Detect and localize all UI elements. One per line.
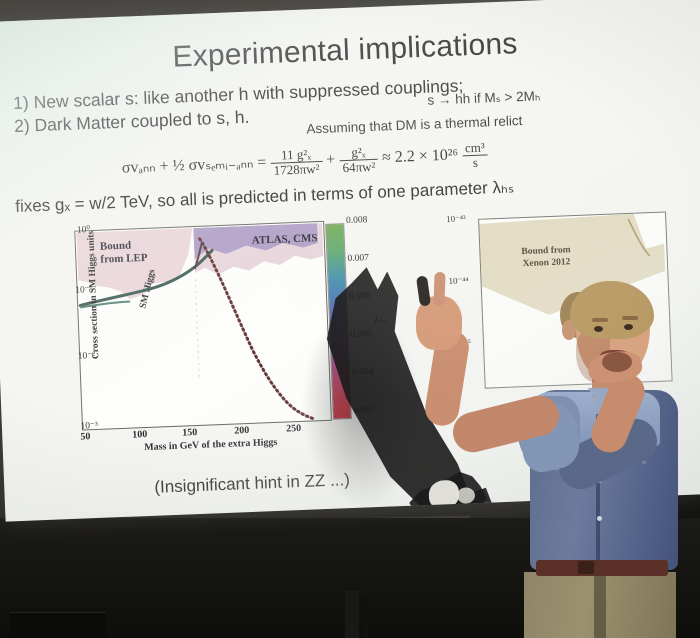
right-ytick-2: 10⁻⁴⁵ [451,337,471,349]
right-plot-curves [478,212,670,387]
shadow-highlight [428,480,459,509]
left-xtick-2: 150 [182,427,197,439]
equation-lhs: σvₐₙₙ + ½ σvₛₑₘᵢ₋ₐₙₙ = [122,154,267,177]
right-plot: Bound fromXenon 2012 10⁻⁴³ 10⁻⁴⁴ 10⁻⁴⁵ [446,209,683,408]
left-plot-curves [75,222,331,430]
left-ytick-0: 10⁰ [77,224,91,236]
slide-equation: σvₐₙₙ + ½ σvₛₑₘᵢ₋ₐₙₙ = 11 g²ₓ 1728πw² + … [121,140,488,183]
slide-bullet-2-tail: Assuming that DM is a thermal relict [306,113,523,136]
video-frame: Experimental implications 1) New scalar … [0,0,700,638]
right-ytick-0: 10⁻⁴³ [446,213,466,225]
equation-term-2: g²ₓ 64πw² [339,145,379,175]
colorbar-tick-0: 0.008 [346,215,368,226]
bullet-2-marker: 2) [14,115,30,136]
slide: Experimental implications 1) New scalar … [0,0,700,522]
left-ytick-1: 10⁻¹ [75,284,93,296]
slide-bullet-1-tail: s → hh if Mₛ > 2Mₕ [427,88,540,108]
left-xtick-1: 100 [132,429,147,441]
colorbar-tick-1: 0.007 [347,253,369,264]
left-xtick-0: 50 [80,431,90,442]
left-ytick-2: 10⁻² [78,350,96,362]
door-frame [345,590,359,638]
left-ytick-3: 10⁻³ [80,420,98,432]
term1-denominator: 1728πw² [270,161,322,178]
unit-numerator: cm³ [462,140,488,155]
equation-units: cm³ s [462,140,489,169]
bullet-1-marker: 1) [13,92,29,113]
left-xtick-3: 200 [234,425,249,437]
left-xtick-4: 250 [286,423,301,435]
unit-denominator: s [462,154,488,170]
left-plot-frame: Boundfrom LEP ATLAS, CMS SM Higgs [74,221,332,431]
slide-title: Experimental implications [172,27,518,75]
right-ytick-1: 10⁻⁴⁴ [448,275,468,287]
equation-approx: ≈ 2.2 × 10²⁶ [382,146,459,166]
term2-denominator: 64πw² [339,158,378,174]
projection-screen: Experimental implications 1) New scalar … [0,0,700,536]
equation-plus: + [326,151,336,168]
floor-object [10,612,106,638]
slide-third-line: fixes gₓ = w/2 TeV, so all is predicted … [15,177,515,217]
equation-term-1: 11 g²ₓ 1728πw² [270,147,323,177]
door-frame-inner [362,596,368,638]
